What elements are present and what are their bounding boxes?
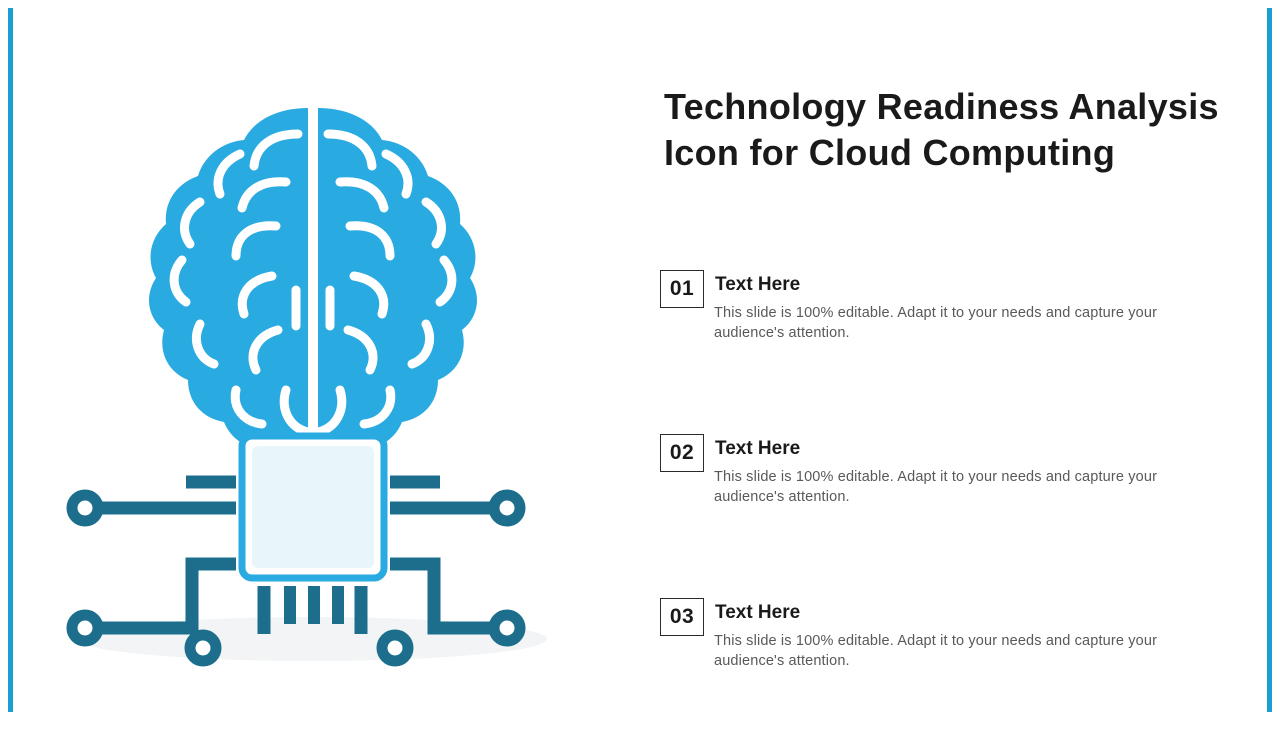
title-line-2: Icon for Cloud Computing [664, 130, 1234, 176]
item-body-03: This slide is 100% editable. Adapt it to… [714, 631, 1194, 671]
item-heading-02: Text Here [715, 438, 800, 460]
accent-bar-right [1267, 8, 1272, 712]
item-number-badge-03: 03 [660, 598, 704, 636]
list-item: 01 Text Here This slide is 100% editable… [660, 262, 1240, 426]
microchip-icon [240, 434, 386, 580]
brain-icon [149, 108, 477, 466]
item-number-badge-01: 01 [660, 270, 704, 308]
item-number-03: 03 [670, 605, 694, 629]
item-number-01: 01 [670, 277, 694, 301]
accent-bar-left [8, 8, 13, 712]
title-line-1: Technology Readiness Analysis [664, 84, 1234, 130]
list-item: 03 Text Here This slide is 100% editable… [660, 590, 1240, 754]
chip-bottom-pins [284, 586, 344, 624]
page-title: Technology Readiness Analysis Icon for C… [664, 84, 1234, 176]
item-number-02: 02 [670, 441, 694, 465]
list-item: 02 Text Here This slide is 100% editable… [660, 426, 1240, 590]
slide-canvas: Technology Readiness Analysis Icon for C… [0, 0, 1280, 720]
brain-microchip-illustration [40, 90, 610, 670]
item-heading-01: Text Here [715, 274, 800, 296]
numbered-items-list: 01 Text Here This slide is 100% editable… [660, 262, 1240, 754]
item-number-badge-02: 02 [660, 434, 704, 472]
item-body-01: This slide is 100% editable. Adapt it to… [714, 303, 1194, 343]
item-body-02: This slide is 100% editable. Adapt it to… [714, 467, 1194, 507]
item-heading-03: Text Here [715, 602, 800, 624]
